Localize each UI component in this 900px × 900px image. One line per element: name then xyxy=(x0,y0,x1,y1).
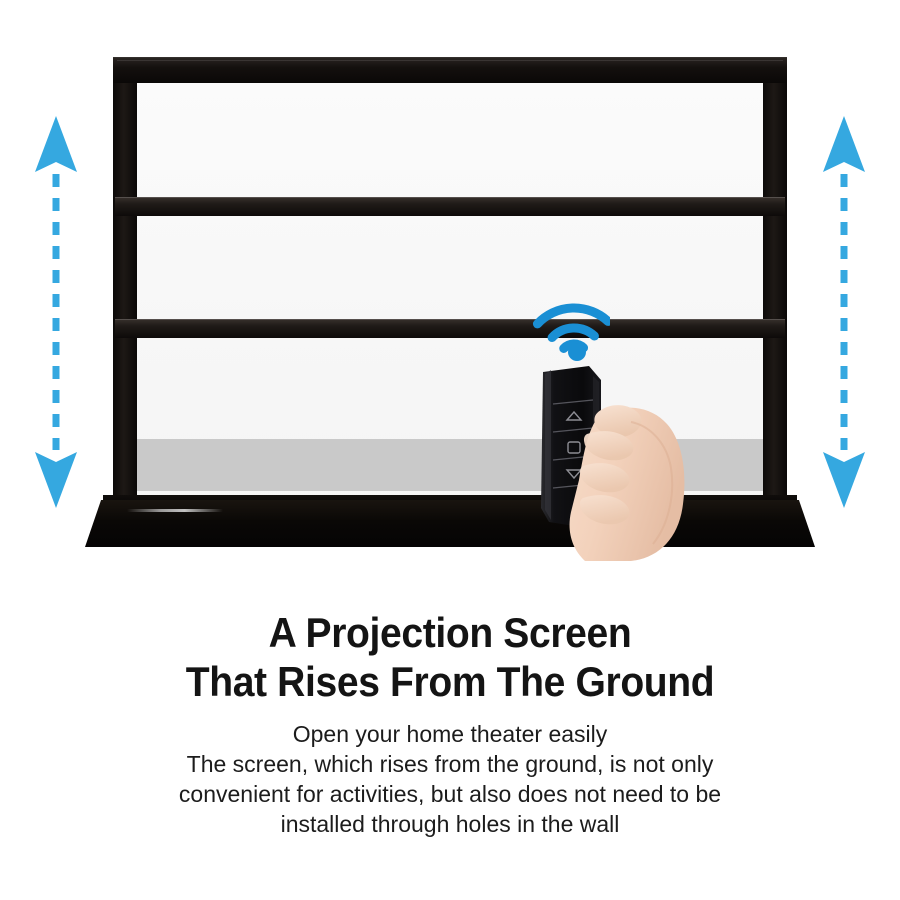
screen-base-slot xyxy=(127,509,223,512)
subcopy-line-1: Open your home theater easily xyxy=(0,719,900,749)
screen-post-right xyxy=(763,71,787,537)
subcopy-line-2: The screen, which rises from the ground,… xyxy=(0,749,900,779)
screen-head-rail xyxy=(113,57,787,83)
caption-block: A Projection Screen That Rises From The … xyxy=(0,608,900,839)
headline-line-2: That Rises From The Ground xyxy=(32,657,869,706)
subcopy-line-3: convenient for activities, but also does… xyxy=(0,779,900,809)
screen-cross-bar-upper xyxy=(115,197,785,216)
subcopy-line-4: installed through holes in the wall xyxy=(0,809,900,839)
headline-line-1: A Projection Screen xyxy=(32,608,869,657)
product-marketing-image: A Projection Screen That Rises From The … xyxy=(0,0,900,900)
screen-post-left xyxy=(113,71,137,537)
hand-with-remote xyxy=(527,362,717,562)
screen-cross-bar-lower xyxy=(115,319,785,338)
product-illustration xyxy=(0,0,900,580)
left-travel-arrow xyxy=(24,112,88,512)
right-travel-arrow xyxy=(812,112,876,512)
